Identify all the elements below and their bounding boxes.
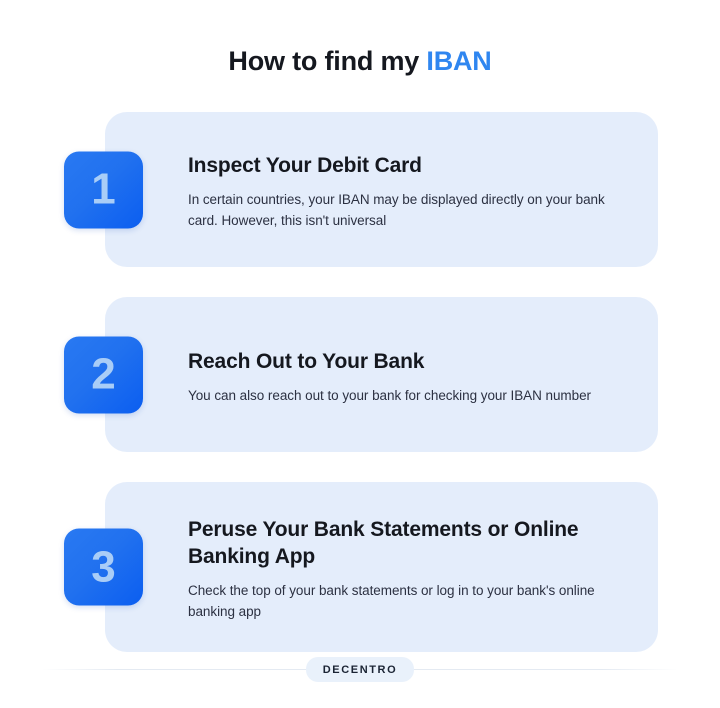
step-card: Inspect Your Debit Card In certain count… — [105, 112, 658, 267]
footer: DECENTRO — [0, 649, 720, 689]
step-number-badge: 2 — [64, 336, 143, 413]
step-card: Reach Out to Your Bank You can also reac… — [105, 297, 658, 452]
steps-list: Inspect Your Debit Card In certain count… — [0, 112, 720, 682]
step-number-badge: 1 — [64, 151, 143, 228]
step-heading: Peruse Your Bank Statements or Online Ba… — [188, 516, 618, 570]
step-number-label: 2 — [91, 353, 115, 397]
step-card: Peruse Your Bank Statements or Online Ba… — [105, 482, 658, 652]
step-item: Inspect Your Debit Card In certain count… — [0, 112, 720, 267]
step-item: Peruse Your Bank Statements or Online Ba… — [0, 482, 720, 652]
step-heading: Reach Out to Your Bank — [188, 348, 618, 375]
step-item: Reach Out to Your Bank You can also reac… — [0, 297, 720, 452]
infographic-page: How to find my IBAN Inspect Your Debit C… — [0, 0, 720, 708]
step-body: Check the top of your bank statements or… — [188, 580, 618, 622]
step-number-label: 3 — [91, 545, 115, 589]
page-title: How to find my IBAN — [0, 44, 720, 78]
decentro-logo-text: DECENTRO — [323, 664, 398, 676]
step-number-badge: 3 — [64, 529, 143, 606]
step-heading: Inspect Your Debit Card — [188, 152, 618, 179]
step-number-label: 1 — [91, 168, 115, 212]
page-title-prefix: How to find my — [228, 46, 426, 76]
page-title-container: How to find my IBAN — [0, 44, 720, 78]
step-body: You can also reach out to your bank for … — [188, 385, 618, 406]
decentro-logo: DECENTRO — [306, 657, 415, 682]
page-title-accent: IBAN — [426, 46, 491, 76]
step-body: In certain countries, your IBAN may be d… — [188, 189, 618, 231]
